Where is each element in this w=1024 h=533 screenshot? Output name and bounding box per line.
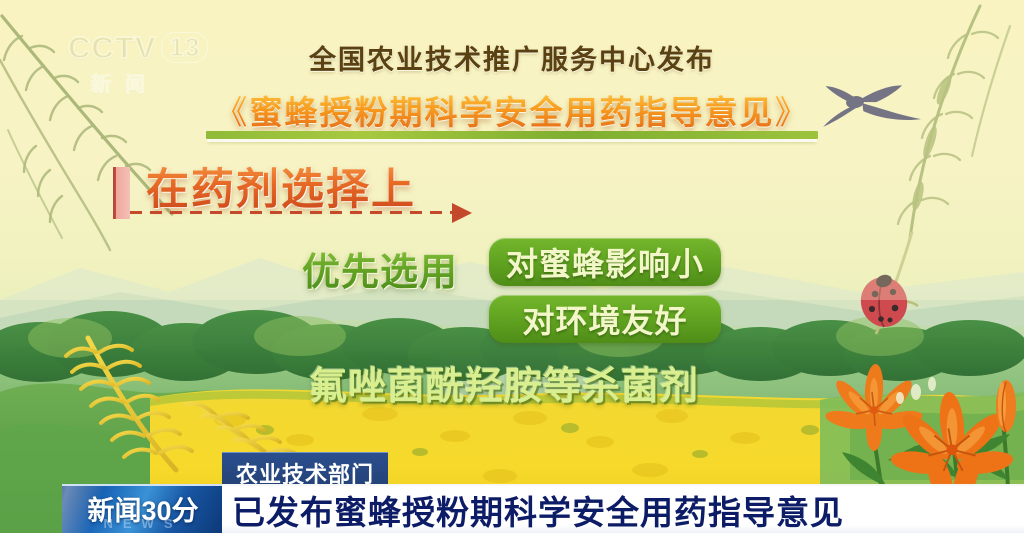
publisher-line: 全国农业技术推广服务中心发布 <box>0 38 1024 77</box>
section-marker-bar <box>113 167 130 219</box>
arrow-head-icon <box>452 203 472 223</box>
fungicide-conclusion: 氟唑菌酰羟胺等杀菌剂 <box>309 355 699 410</box>
program-subtitle: NEWS <box>62 516 224 531</box>
benefit-pill-bee: 对蜜蜂影响小 <box>489 238 721 286</box>
news-headline: 已发布蜜蜂授粉期科学安全用药指导意见 <box>232 486 844 533</box>
prefer-label: 优先选用 <box>302 241 458 296</box>
section-headline: 在药剂选择上 <box>146 155 416 217</box>
document-title: 《蜜蜂授粉期科学安全用药指导意见》 <box>0 86 1024 134</box>
program-badge: 新闻30分 NEWS <box>62 484 224 533</box>
broadcast-frame: CCTV 13 新闻 全国农业技术推广服务中心发布 《蜜蜂授粉期科学安全用药指导… <box>0 0 1024 533</box>
benefit-pill-environment: 对环境友好 <box>489 295 721 343</box>
header-block: 全国农业技术推广服务中心发布 《蜜蜂授粉期科学安全用药指导意见》 <box>0 38 1024 134</box>
title-close-bracket: 》 <box>775 94 810 131</box>
document-title-text: 蜜蜂授粉期科学安全用药指导意见 <box>250 94 775 131</box>
title-divider <box>206 131 818 139</box>
title-open-bracket: 《 <box>215 94 250 131</box>
dashed-arrow-rule <box>130 211 464 214</box>
headline-bar: 已发布蜜蜂授粉期科学安全用药指导意见 <box>222 484 1024 533</box>
